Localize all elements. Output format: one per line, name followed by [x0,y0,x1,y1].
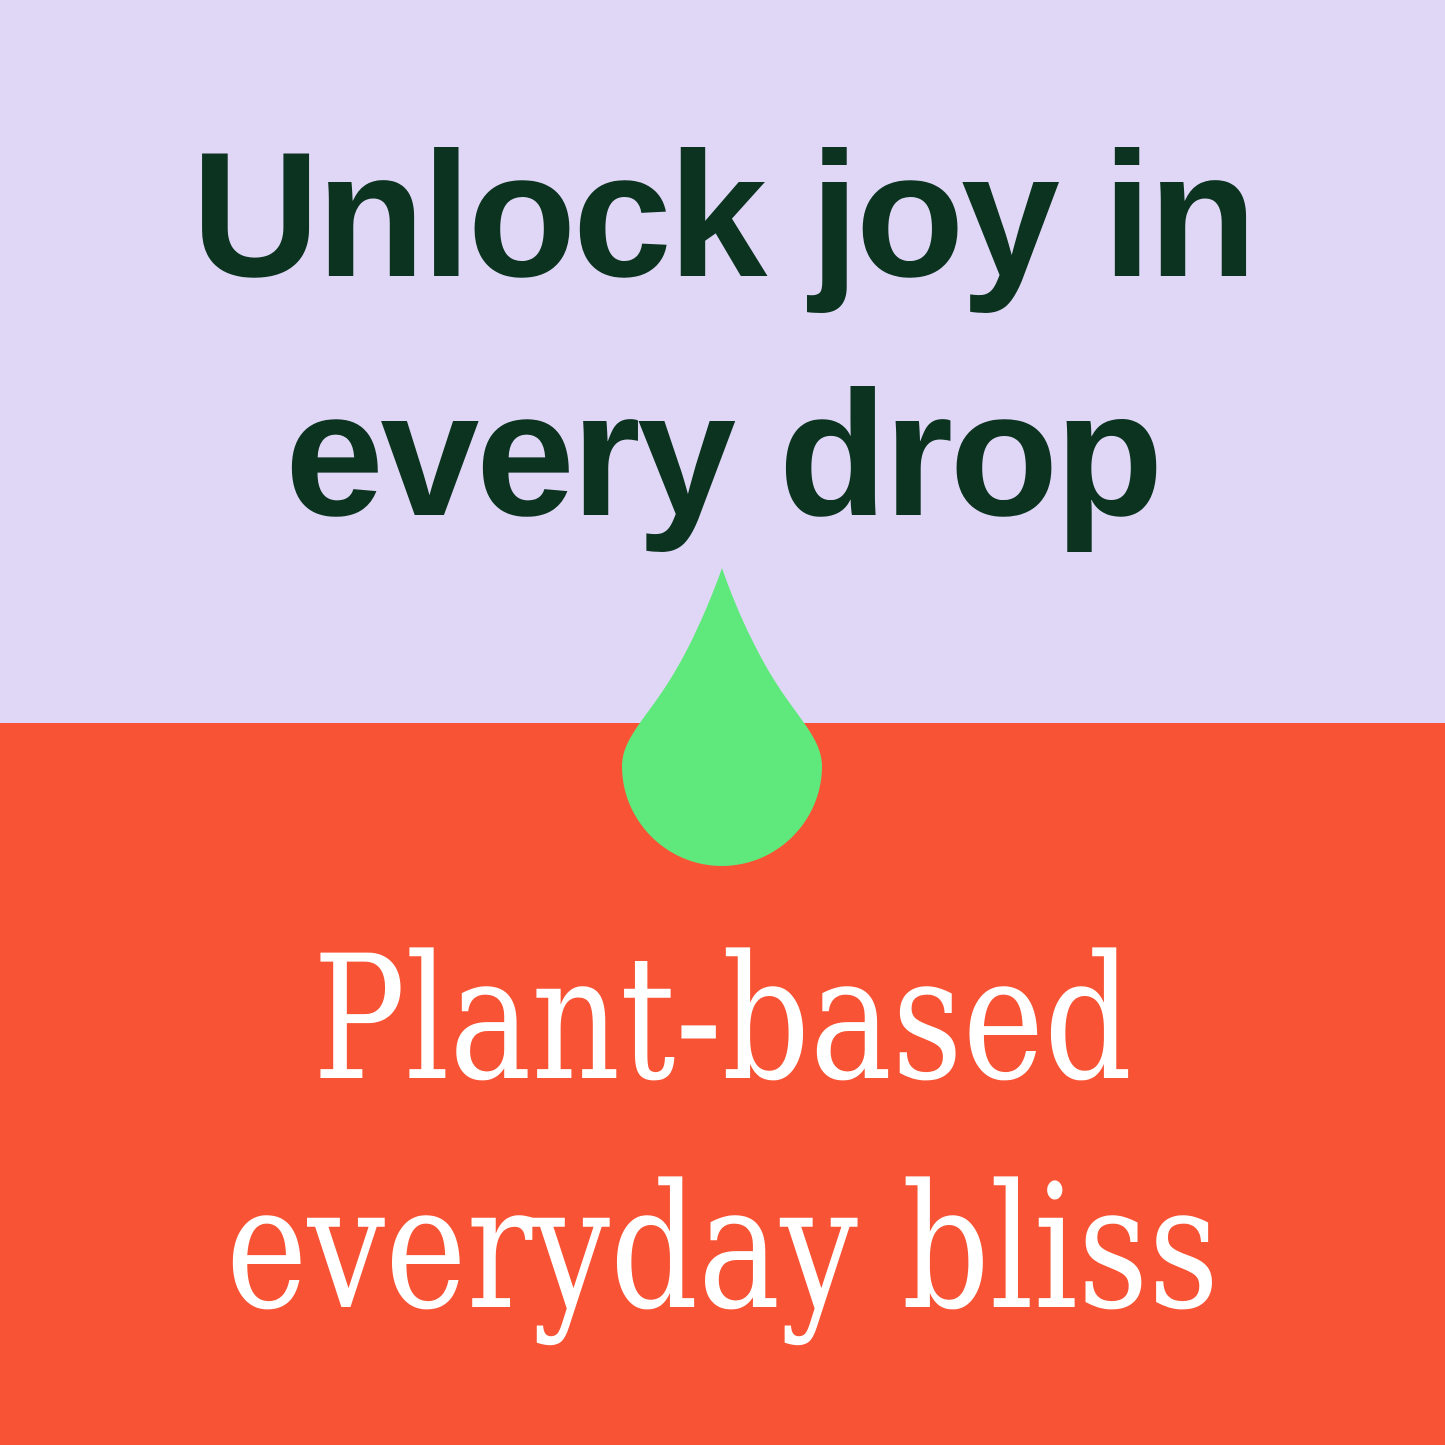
promo-poster: Unlock joy in every drop Plant-based eve… [0,0,1445,1445]
headline-text: Unlock joy in every drop [0,96,1445,573]
water-droplet-icon [622,568,822,866]
subtitle-text: Plant-based everyday bliss [145,905,1301,1363]
